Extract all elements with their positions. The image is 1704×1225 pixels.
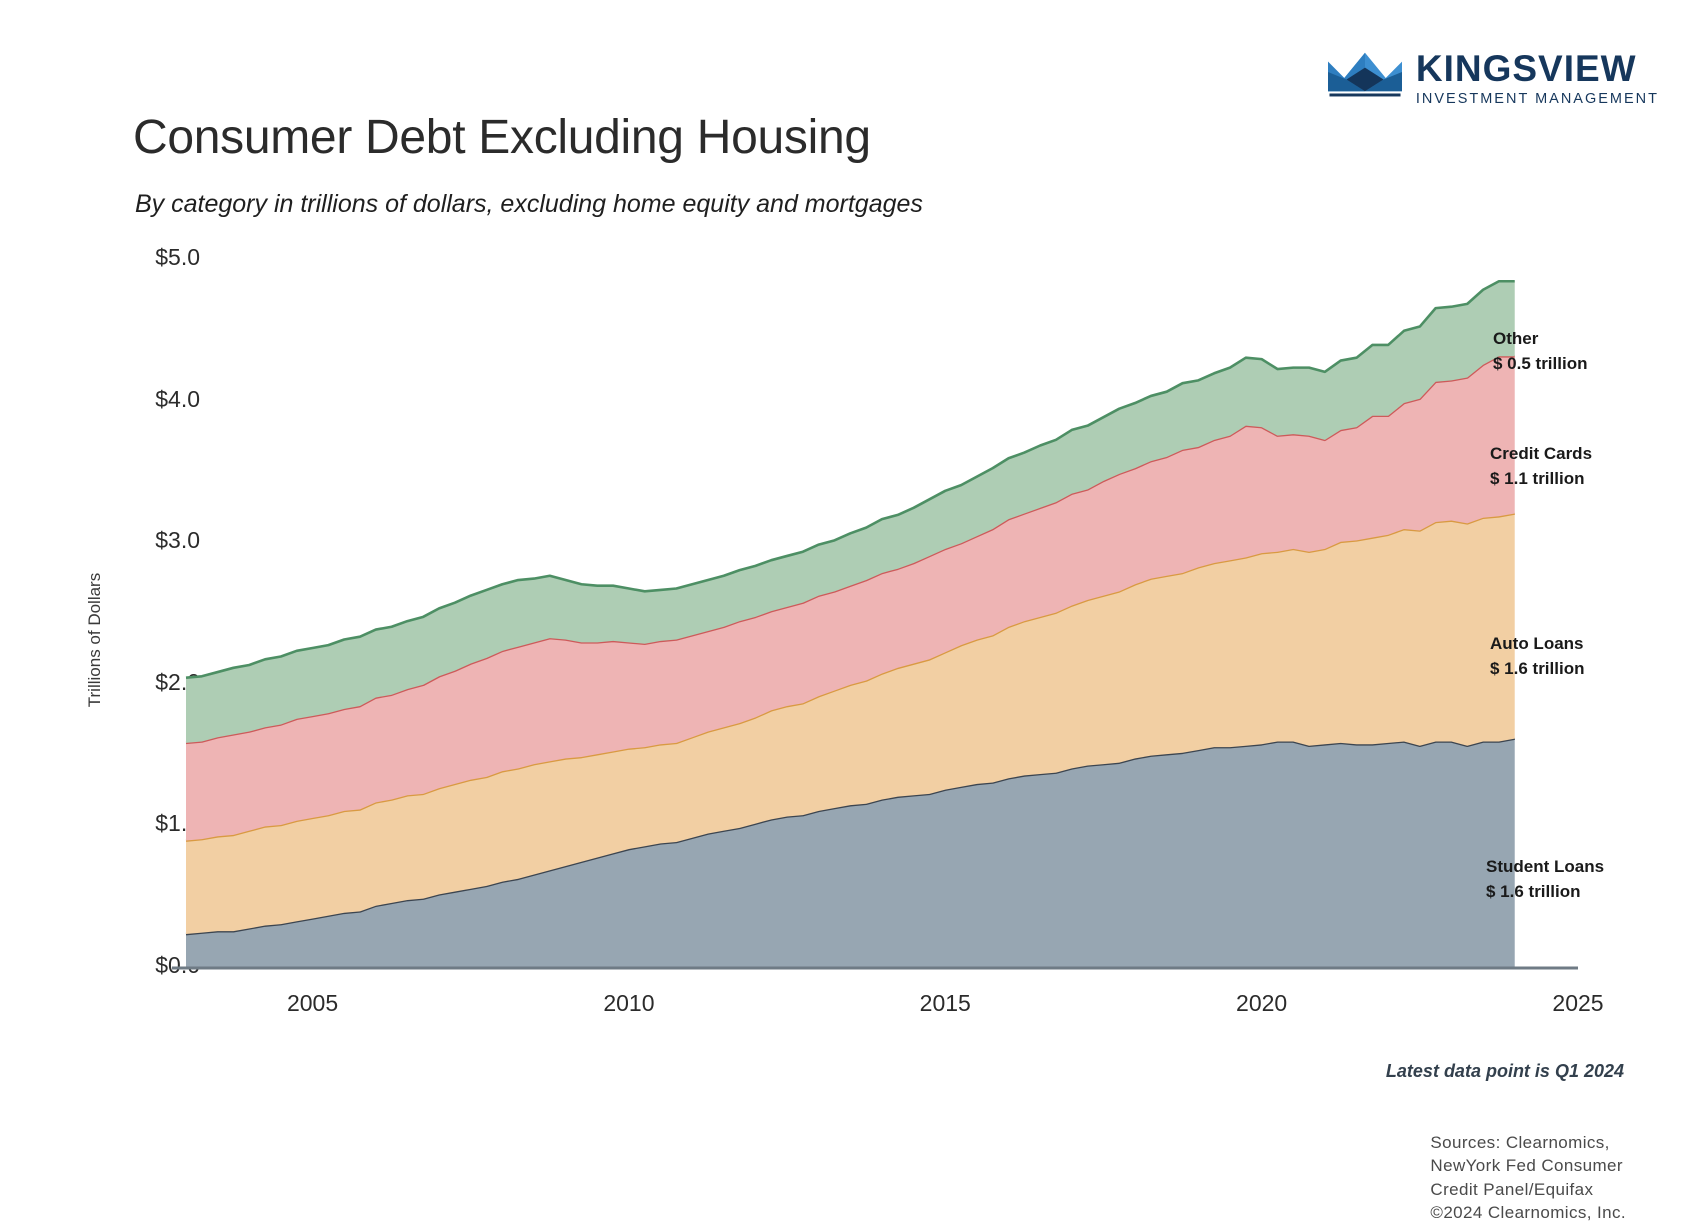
series-note-auto-loans: Auto Loans $ 1.6 trillion — [1490, 632, 1584, 681]
sources-note: Sources: Clearnomics, NewYork Fed Consum… — [1430, 1131, 1626, 1225]
series-note-auto-loans-value: $ 1.6 trillion — [1490, 657, 1584, 682]
series-note-other: Other $ 0.5 trillion — [1493, 327, 1587, 376]
series-note-credit-cards-value: $ 1.1 trillion — [1490, 467, 1592, 492]
stacked-area-chart: Trillions of Dollars $0.0$1.0$2.0$3.0$4.… — [0, 0, 1704, 1200]
series-note-credit-cards: Credit Cards $ 1.1 trillion — [1490, 442, 1592, 491]
series-note-other-label: Other — [1493, 327, 1587, 352]
series-note-credit-cards-label: Credit Cards — [1490, 442, 1592, 467]
series-note-student-loans: Student Loans $ 1.6 trillion — [1486, 855, 1604, 904]
plot-canvas — [0, 0, 1704, 1200]
latest-data-point-note: Latest data point is Q1 2024 — [1386, 1061, 1624, 1082]
series-note-student-loans-label: Student Loans — [1486, 855, 1604, 880]
series-note-student-loans-value: $ 1.6 trillion — [1486, 880, 1604, 905]
series-note-other-value: $ 0.5 trillion — [1493, 352, 1587, 377]
series-note-auto-loans-label: Auto Loans — [1490, 632, 1584, 657]
